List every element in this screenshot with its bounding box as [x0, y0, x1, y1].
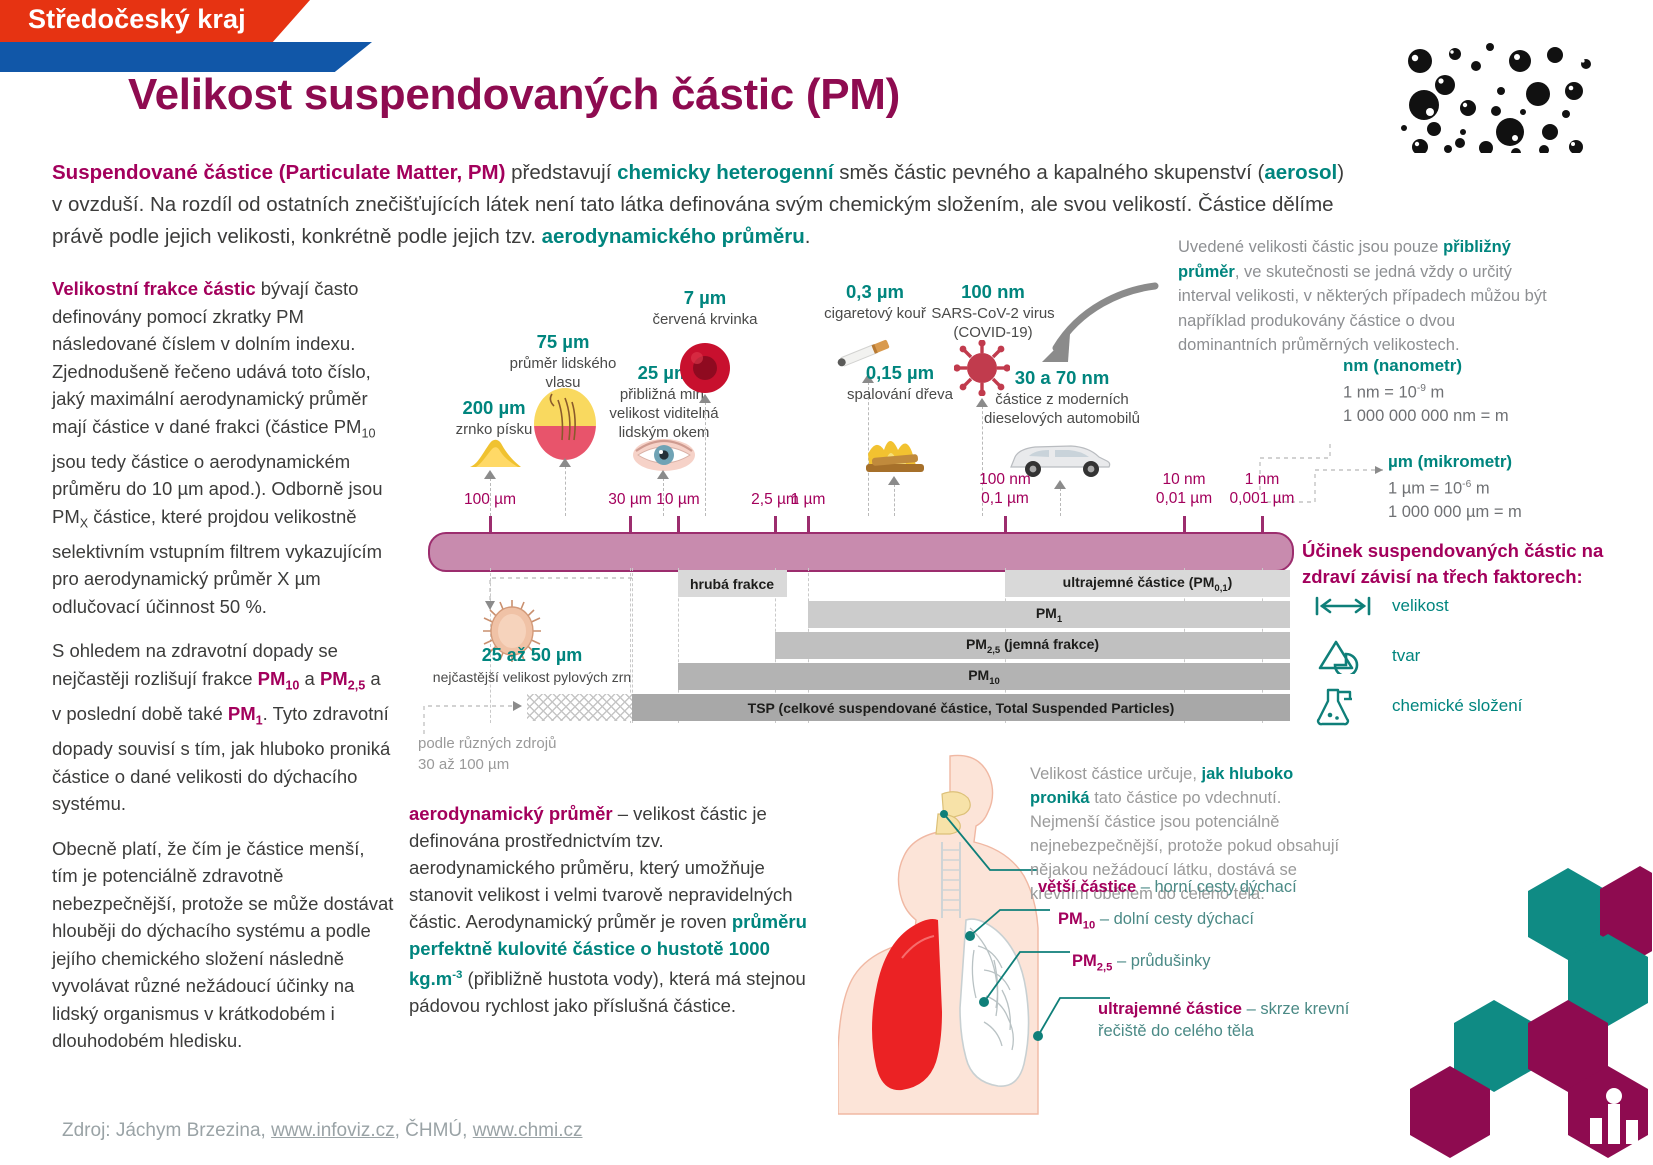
callout-cigarette-smoke: 0,3 µm cigaretový kouř [820, 282, 930, 323]
callout-wood-value: 0,15 µm [845, 363, 955, 382]
left-paragraph-3: Obecně platí, že čím je částice menší, t… [52, 835, 394, 1055]
band-tsp-hatched-extension [527, 694, 632, 721]
note-approximate-diameter: Uvedené velikosti částic jsou pouze přib… [1178, 235, 1548, 358]
legend-larger-rest: – horní cesty dýchací [1136, 878, 1297, 896]
legend-pm25: PM2,5 – průdušinky [1072, 950, 1211, 978]
band-tsp: TSP (celkové suspendované částice, Total… [632, 694, 1290, 721]
body-note-1: Velikost částice určuje, [1030, 765, 1202, 783]
legend-ultrafine-bold: ultrajemné částice [1098, 1000, 1242, 1018]
legend-larger-bold: větší částice [1038, 878, 1136, 896]
shape-icon [1314, 638, 1372, 674]
factor-size-label: velikost [1392, 596, 1449, 616]
flask-icon [1314, 686, 1372, 726]
arrow-hair [559, 458, 571, 467]
sand-pile-icon [466, 436, 524, 470]
intro-paragraph: Suspendované částice (Particulate Matter… [52, 157, 1352, 253]
arrow-wood [888, 476, 900, 485]
region-banner-blue [0, 42, 372, 72]
arrow-eye [657, 470, 669, 479]
intro-text-1: představují [505, 161, 617, 184]
hair-skin-icon [534, 388, 596, 460]
footer-link-chmi[interactable]: www.chmi.cz [473, 1120, 583, 1141]
unit-nanometr-line1: 1 nm = 10-9 m [1343, 377, 1509, 405]
pollen-label: nejčastější velikost pylových zrn [432, 669, 632, 685]
callout-wood-label: spalování dřeva [847, 386, 953, 403]
tick-label-100nm: 100 nm0,1 µm [947, 470, 1063, 508]
callout-rbc-label: červená krvinka [652, 311, 757, 328]
legend-pm25-rest: – průdušinky [1112, 952, 1210, 970]
page-title: Velikost suspendovaných částic (PM) [128, 70, 900, 120]
stem-wood [894, 484, 895, 516]
legend-larger-particles: větší částice – horní cesty dýchací [1038, 876, 1297, 898]
callout-diesel-value: 30 a 70 nm [982, 368, 1142, 387]
factor-shape-label: tvar [1392, 646, 1420, 666]
size-arrows-icon [1314, 594, 1372, 618]
left-paragraph-2: S ohledem na zdravotní dopady se nejčast… [52, 637, 394, 817]
factor-chemistry-label: chemické složení [1392, 696, 1522, 716]
intro-bold-aerosol: aerosol [1264, 161, 1337, 184]
callout-virus-value: 100 nm [918, 282, 1068, 301]
footer-link-infoviz[interactable]: www.infoviz.cz [271, 1120, 395, 1141]
callout-red-blood-cell: 7 µm červená krvinka [650, 288, 760, 329]
callout-rbc-value: 7 µm [650, 288, 760, 307]
callout-hair-value: 75 µm [498, 332, 628, 351]
callout-diesel-particles: 30 a 70 nm částice z moderních dieselový… [982, 368, 1142, 428]
tick-label-10um: 10 µm [642, 490, 714, 509]
intro-text-2: směs částic pevného a kapalného skupenst… [834, 161, 1265, 184]
callout-wood-burning: 0,15 µm spalování dřeva [845, 363, 955, 404]
footer-mid: , ČHMÚ, [395, 1120, 473, 1141]
unit-nanometr: nm (nanometr) 1 nm = 10-9 m 1 000 000 00… [1343, 354, 1509, 428]
particles-dots-motif [1398, 28, 1628, 153]
hexagon-logo [1382, 800, 1652, 1165]
factor-shape: tvar [1314, 638, 1420, 674]
band-pm25: PM2,5 (jemná frakce) [775, 632, 1290, 659]
factor-chemistry: chemické složení [1314, 686, 1522, 726]
factor-size: velikost [1314, 594, 1449, 618]
region-banner-label: Středočeský kraj [28, 4, 246, 35]
unit-nanometr-head: nm (nanometr) [1343, 354, 1509, 377]
legend-ultrafine: ultrajemné částice – skrze krevní řečišt… [1098, 998, 1358, 1042]
legend-pm10: PM10 – dolní cesty dýchací [1058, 908, 1254, 936]
intro-bold-aerodyn: aerodynamického průměru [542, 225, 805, 248]
intro-bold-heterogenni: chemicky heterogenní [617, 161, 833, 184]
aero-bold: aerodynamický průměr [409, 803, 613, 824]
factors-title: Účinek suspendovaných částic na zdraví z… [1302, 538, 1632, 590]
footer-source: Zdroj: Jáchym Brzezina, www.infoviz.cz, … [62, 1120, 583, 1142]
stem-hair [565, 466, 566, 516]
tick-label-1nm: 1 nm0,001 µm [1204, 470, 1320, 508]
tick-label-100um: 100 µm [450, 490, 530, 509]
band-pm1: PM1 [808, 601, 1290, 628]
intro-bold-pm: Suspendované částice (Particulate Matter… [52, 161, 505, 184]
band-coarse-fraction: hrubá frakce [678, 570, 787, 597]
band-pm10: PM10 [678, 663, 1290, 690]
aerodynamic-diameter-text: aerodynamický průměr – velikost částic j… [409, 800, 809, 1019]
legend-pm10-rest: – dolní cesty dýchací [1095, 910, 1254, 928]
left-p1-bold: Velikostní frakce částic [52, 278, 256, 299]
firewood-icon [860, 424, 930, 476]
size-scale-bar [428, 532, 1294, 572]
callout-pollen: 25 až 50 µm nejčastější velikost pylovýc… [432, 645, 632, 685]
callout-diesel-label: částice z moderních dieselových automobi… [984, 391, 1140, 427]
band-ultrafine: ultrajemné částice (PM0,1) [1005, 570, 1290, 597]
tick-label-1um: 1 µm [772, 490, 844, 509]
callout-virus-label: SARS-CoV-2 virus (COVID-19) [931, 305, 1054, 341]
left-text-column: Velikostní frakce částic bývají často de… [52, 275, 394, 1072]
blood-cell-icon [679, 342, 731, 394]
intro-text-4: . [805, 225, 811, 248]
arrow-sand [484, 470, 496, 479]
arrow-rbc [699, 394, 711, 403]
callout-cig-label: cigaretový kouř [824, 305, 926, 322]
aero-text-2: (přibližně hustota vody), která má stejn… [409, 968, 806, 1016]
unit-nanometr-line2: 1 000 000 000 nm = m [1343, 405, 1509, 428]
footer-prefix: Zdroj: Jáchym Brzezina, [62, 1120, 271, 1141]
pollen-value: 25 až 50 µm [432, 645, 632, 666]
eye-icon [632, 438, 696, 472]
tsp-source-note: podle různých zdrojů 30 až 100 µm [418, 733, 568, 775]
note-text-1: Uvedené velikosti částic jsou pouze [1178, 238, 1443, 256]
left-paragraph-1: Velikostní frakce částic bývají často de… [52, 275, 394, 620]
callout-cig-value: 0,3 µm [820, 282, 930, 301]
callout-sars-cov-2: 100 nm SARS-CoV-2 virus (COVID-19) [918, 282, 1068, 342]
